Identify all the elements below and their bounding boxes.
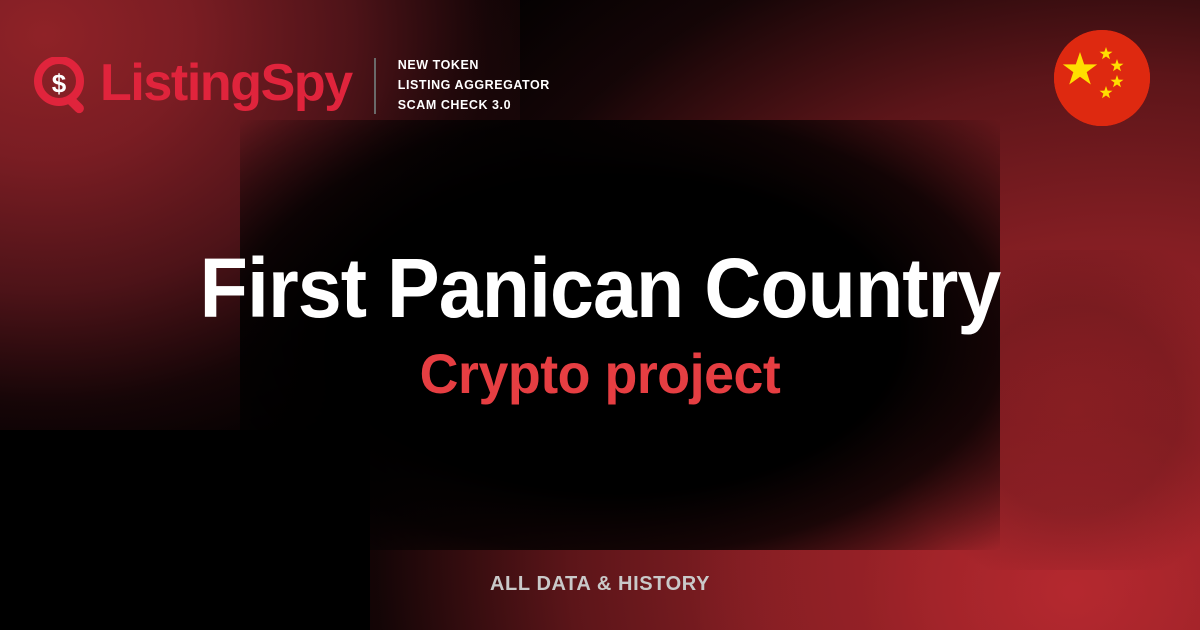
tagline-line-1: NEW TOKEN (398, 56, 550, 76)
magnifier-dollar-icon: $ (34, 57, 92, 115)
footer-block: ALL DATA & HISTORY (0, 573, 1200, 596)
page-subtitle: Crypto project (24, 346, 1176, 402)
brand-header[interactable]: $ ListingSpy NEW TOKEN LISTING AGGREGATO… (34, 56, 550, 115)
header-divider (374, 58, 376, 114)
page-title: First Panican Country (36, 246, 1164, 330)
brand-wordmark: ListingSpy (100, 57, 352, 109)
brand-tagline: NEW TOKEN LISTING AGGREGATOR SCAM CHECK … (398, 56, 550, 115)
tagline-line-3: SCAM CHECK 3.0 (398, 96, 550, 116)
footer-caption: ALL DATA & HISTORY (490, 573, 710, 595)
social-share-card: $ ListingSpy NEW TOKEN LISTING AGGREGATO… (0, 0, 1200, 630)
hero-block: First Panican Country Crypto project (0, 246, 1200, 402)
svg-text:$: $ (52, 68, 67, 98)
tagline-line-2: LISTING AGGREGATOR (398, 76, 550, 96)
china-flag-icon (1054, 30, 1150, 126)
